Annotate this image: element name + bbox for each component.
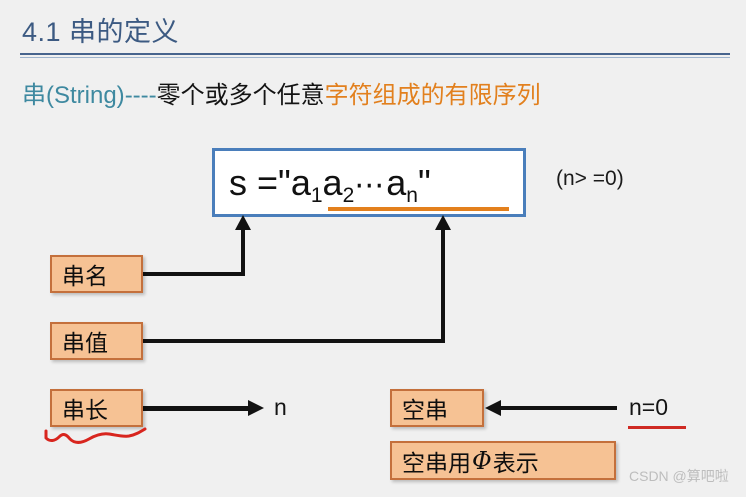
formula-orange-underline (328, 207, 509, 211)
formula-close-quote: " (418, 162, 431, 203)
formula-a1: a (291, 162, 311, 203)
formula-a2-subscript: 2 (343, 184, 355, 207)
label-box-string-length-text: 串长 (62, 391, 108, 425)
connector-value-vertical (441, 228, 445, 343)
definition-black-part: 零个或多个任意 (157, 82, 325, 109)
label-box-empty-string-text: 空串 (402, 391, 448, 425)
definition-orange-part: 字符组成的有限序列 (325, 82, 541, 109)
formula-an: a (386, 162, 406, 203)
connector-length-horizontal (143, 406, 251, 411)
arrow-up-icon (435, 215, 451, 230)
definition-dashes: ---- (125, 82, 157, 109)
empty-notation-prefix: 空串用 (402, 444, 471, 478)
label-n-equals-zero: n=0 (629, 394, 668, 421)
connector-name-vertical (241, 228, 245, 276)
formula-box: s ="a1a2⋯an" (212, 148, 526, 217)
arrow-up-icon (235, 215, 251, 230)
label-box-string-length: 串长 (50, 389, 143, 427)
label-box-empty-string: 空串 (390, 389, 484, 427)
formula-lhs: s = (229, 162, 278, 203)
formula-condition: (n> =0) (556, 167, 624, 191)
formula-ellipsis: ⋯ (354, 169, 386, 202)
divider-line-thick (20, 53, 730, 55)
formula-an-subscript: n (406, 184, 418, 207)
label-n: n (274, 394, 287, 421)
divider-line-thin (20, 57, 730, 58)
label-box-string-name-text: 串名 (62, 257, 108, 291)
title-divider (20, 53, 730, 58)
connector-name-horizontal (143, 272, 245, 276)
connector-value-horizontal (143, 339, 445, 343)
label-box-string-value: 串值 (50, 322, 143, 360)
definition-line: 串(String)----零个或多个任意字符组成的有限序列 (22, 82, 541, 111)
slide-canvas: 4.1 串的定义 串(String)----零个或多个任意字符组成的有限序列 s… (0, 0, 746, 497)
connector-empty-horizontal (500, 406, 617, 410)
phi-symbol: Φ (471, 447, 493, 475)
arrow-left-icon (485, 400, 501, 416)
page-title: 4.1 串的定义 (22, 10, 179, 49)
red-underline-annotation (628, 426, 686, 429)
arrow-right-icon (248, 400, 264, 416)
formula-expression: s ="a1a2⋯an" (229, 153, 431, 226)
formula-a2: a (323, 162, 343, 203)
formula-open-quote: " (278, 162, 291, 203)
empty-notation-suffix: 表示 (493, 444, 539, 478)
formula-a1-subscript: 1 (311, 184, 323, 207)
label-box-string-value-text: 串值 (62, 324, 108, 358)
definition-term: 串(String) (22, 82, 125, 109)
label-box-string-name: 串名 (50, 255, 143, 293)
red-squiggle-annotation (44, 425, 154, 447)
label-box-empty-string-notation: 空串用Φ表示 (390, 441, 616, 480)
csdn-watermark: CSDN @算吧啦 (629, 466, 729, 486)
